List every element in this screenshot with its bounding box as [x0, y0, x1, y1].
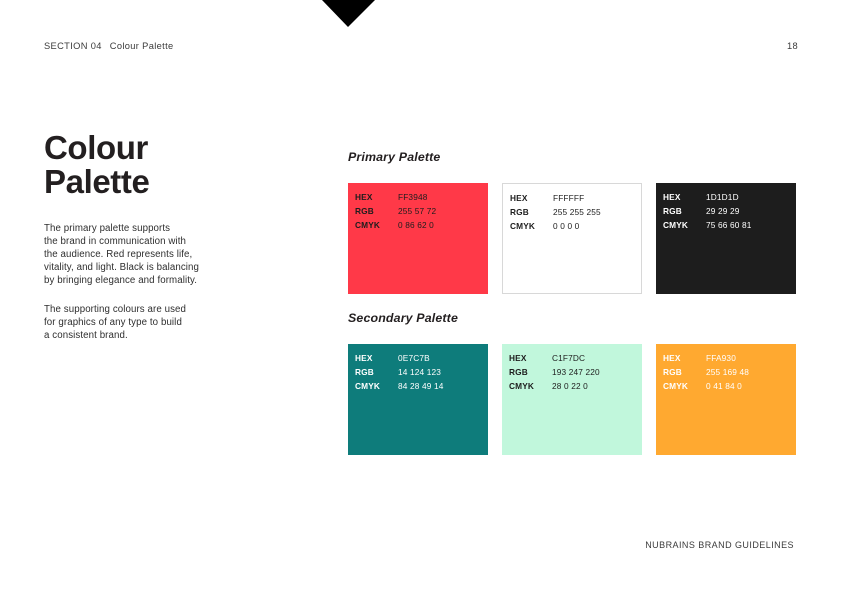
spec-label-rgb: RGB: [663, 205, 701, 218]
swatch-row: HEXFF3948RGB255 57 72CMYK0 86 62 0HEXFFF…: [348, 183, 798, 294]
colour-swatch-white[interactable]: HEXFFFFFFRGB255 255 255CMYK0 0 0 0: [502, 183, 642, 294]
colour-swatch-black[interactable]: HEX1D1D1DRGB29 29 29CMYK75 66 60 81: [656, 183, 796, 294]
page-header: SECTION 04 Colour Palette 18: [44, 41, 798, 57]
spec-value-rgb: 255 169 48: [706, 366, 796, 379]
swatch-specs: HEX0E7C7BRGB14 124 123CMYK84 28 49 14: [355, 352, 488, 393]
spec-value-hex: 0E7C7B: [398, 352, 488, 365]
spec-label-hex: HEX: [663, 352, 701, 365]
spec-value-hex: FFFFFF: [553, 192, 641, 205]
spec-label-rgb: RGB: [355, 366, 393, 379]
spec-label-cmyk: CMYK: [509, 380, 547, 393]
spec-label-rgb: RGB: [509, 366, 547, 379]
spec-value-hex: FF3948: [398, 191, 488, 204]
palette-group-heading: Secondary Palette: [348, 311, 798, 325]
spec-label-cmyk: CMYK: [663, 219, 701, 232]
spec-label-cmyk: CMYK: [510, 220, 548, 233]
spec-value-rgb: 255 57 72: [398, 205, 488, 218]
colour-swatch-orange[interactable]: HEXFFA930RGB255 169 48CMYK0 41 84 0: [656, 344, 796, 455]
spec-label-rgb: RGB: [663, 366, 701, 379]
spec-label-cmyk: CMYK: [355, 380, 393, 393]
swatch-specs: HEXFFA930RGB255 169 48CMYK0 41 84 0: [663, 352, 796, 393]
swatch-specs: HEXC1F7DCRGB193 247 220CMYK28 0 22 0: [509, 352, 642, 393]
spec-value-cmyk: 0 86 62 0: [398, 219, 488, 232]
spec-label-cmyk: CMYK: [663, 380, 701, 393]
spec-label-hex: HEX: [355, 191, 393, 204]
header-section-name: Colour Palette: [110, 41, 174, 51]
swatch-specs: HEXFFFFFFRGB255 255 255CMYK0 0 0 0: [510, 192, 641, 233]
palette-area: Primary PaletteHEXFF3948RGB255 57 72CMYK…: [348, 150, 798, 455]
colour-swatch-teal[interactable]: HEX0E7C7BRGB14 124 123CMYK84 28 49 14: [348, 344, 488, 455]
spec-label-cmyk: CMYK: [355, 219, 393, 232]
swatch-specs: HEX1D1D1DRGB29 29 29CMYK75 66 60 81: [663, 191, 796, 232]
spec-value-hex: FFA930: [706, 352, 796, 365]
intro-column: Colour Palette The primary palette suppo…: [44, 131, 244, 342]
palette-group-heading: Primary Palette: [348, 150, 798, 164]
spec-value-cmyk: 84 28 49 14: [398, 380, 488, 393]
header-breadcrumb: SECTION 04 Colour Palette: [44, 41, 174, 51]
spec-value-hex: 1D1D1D: [706, 191, 796, 204]
spec-value-rgb: 29 29 29: [706, 205, 796, 218]
spec-value-cmyk: 0 0 0 0: [553, 220, 641, 233]
spec-label-hex: HEX: [355, 352, 393, 365]
spec-label-hex: HEX: [509, 352, 547, 365]
spec-value-rgb: 14 124 123: [398, 366, 488, 379]
spec-value-cmyk: 28 0 22 0: [552, 380, 642, 393]
spec-label-hex: HEX: [510, 192, 548, 205]
spec-value-hex: C1F7DC: [552, 352, 642, 365]
spec-label-hex: HEX: [663, 191, 701, 204]
page-title: Colour Palette: [44, 131, 244, 200]
footer-brand-label: NUBRAINS BRAND GUIDELINES: [645, 540, 794, 550]
triangle-marker-icon: [322, 0, 375, 27]
intro-paragraph-supporting: The supporting colours are used for grap…: [44, 303, 244, 342]
spec-value-cmyk: 0 41 84 0: [706, 380, 796, 393]
spec-value-rgb: 193 247 220: [552, 366, 642, 379]
colour-swatch-mint[interactable]: HEXC1F7DCRGB193 247 220CMYK28 0 22 0: [502, 344, 642, 455]
swatch-row: HEX0E7C7BRGB14 124 123CMYK84 28 49 14HEX…: [348, 344, 798, 455]
page-number: 18: [787, 41, 798, 51]
swatch-specs: HEXFF3948RGB255 57 72CMYK0 86 62 0: [355, 191, 488, 232]
intro-paragraph-primary: The primary palette supports the brand i…: [44, 222, 244, 287]
spec-label-rgb: RGB: [355, 205, 393, 218]
palette-group: Secondary PaletteHEX0E7C7BRGB14 124 123C…: [348, 311, 798, 455]
spec-label-rgb: RGB: [510, 206, 548, 219]
header-section-number: SECTION 04: [44, 41, 102, 51]
palette-group: Primary PaletteHEXFF3948RGB255 57 72CMYK…: [348, 150, 798, 294]
colour-swatch-red[interactable]: HEXFF3948RGB255 57 72CMYK0 86 62 0: [348, 183, 488, 294]
spec-value-cmyk: 75 66 60 81: [706, 219, 796, 232]
spec-value-rgb: 255 255 255: [553, 206, 641, 219]
